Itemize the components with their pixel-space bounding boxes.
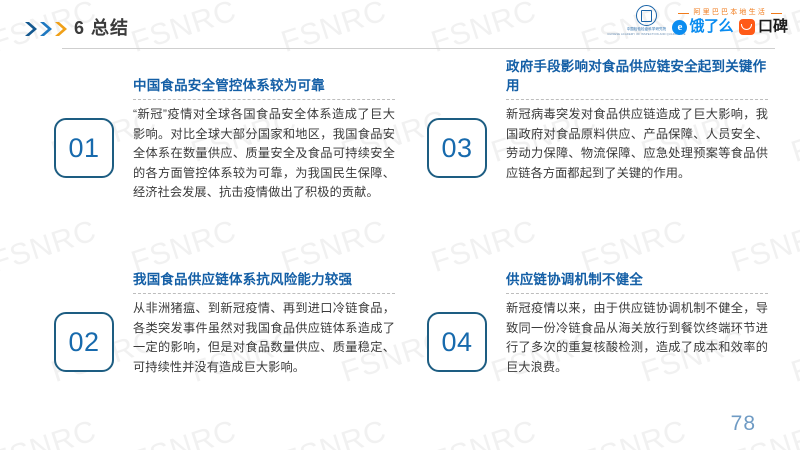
card-divider — [506, 99, 768, 100]
card-divider — [506, 293, 768, 294]
card-number-box: 01 — [54, 118, 114, 178]
tagline-rule-right — [771, 13, 782, 14]
tagline-rule-left — [678, 13, 689, 14]
caiq-name-cn: 中国检验检疫科学研究院 — [627, 27, 667, 32]
card-number-box: 04 — [427, 312, 487, 372]
card-heading: 供应链协调机制不健全 — [506, 270, 768, 289]
brand-marks-row: e 饿了么 口碑 — [672, 19, 788, 35]
slide-canvas: 6 总结 中国检验检疫科学研究院 CHINESE ACADEMY OF INSP… — [0, 0, 800, 450]
caiq-emblem-icon — [636, 5, 657, 26]
card-number: 04 — [441, 327, 472, 357]
summary-card-04: 04 供应链协调机制不健全 新冠疫情以来，由于供应链协调机制不健全，导致同一份冷… — [427, 312, 768, 377]
card-body: 政府手段影响对食品供应链安全起到关键作用 新冠病毒突发对食品供应链造成了巨大影响… — [506, 57, 768, 183]
card-number: 02 — [68, 327, 99, 357]
card-text: “新冠”疫情对全球各国食品安全体系造成了巨大影响。对比全球大部分国家和地区，我国… — [133, 105, 395, 203]
koubei-logo: 口碑 — [739, 19, 788, 35]
eleme-badge-icon: e — [672, 20, 687, 35]
tagline-text: 阿里巴巴本地生活 — [693, 8, 767, 18]
summary-card-02: 02 我国食品供应链体系抗风险能力较强 从非洲猪瘟、到新冠疫情、再到进口冷链食品… — [54, 312, 395, 377]
card-body: 中国食品安全管控体系较为可靠 “新冠”疫情对全球各国食品安全体系造成了巨大影响。… — [133, 76, 395, 203]
card-heading: 我国食品供应链体系抗风险能力较强 — [133, 270, 395, 289]
caiq-logo: 中国检验检疫科学研究院 CHINESE ACADEMY OF INSPECTIO… — [626, 5, 666, 37]
card-number-box: 02 — [54, 312, 114, 372]
card-number: 03 — [441, 133, 472, 163]
card-text: 新冠疫情以来，由于供应链协调机制不健全，导致同一份冷链食品从海关放行到餐饮终端环… — [506, 299, 768, 377]
summary-card-01: 01 中国食品安全管控体系较为可靠 “新冠”疫情对全球各国食品安全体系造成了巨大… — [54, 118, 395, 203]
card-text: 新冠病毒突发对食品供应链造成了巨大影响，我国政府对食品原料供应、产品保障、人员安… — [506, 105, 768, 183]
alibaba-local-services-logo: 阿里巴巴本地生活 e 饿了么 口碑 — [672, 7, 788, 35]
card-divider — [133, 99, 395, 100]
eleme-logo: e 饿了么 — [672, 19, 733, 35]
card-text: 从非洲猪瘟、到新冠疫情、再到进口冷链食品，各类突发事件虽然对我国食品供应链体系造… — [133, 299, 395, 377]
card-heading: 政府手段影响对食品供应链安全起到关键作用 — [506, 57, 768, 95]
page-title: 6 总结 — [74, 16, 129, 40]
card-number: 01 — [68, 133, 99, 163]
card-body: 供应链协调机制不健全 新冠疫情以来，由于供应链协调机制不健全，导致同一份冷链食品… — [506, 270, 768, 377]
chevron-arrows-icon — [24, 21, 68, 37]
header-divider — [62, 48, 775, 49]
koubei-smile-icon — [739, 19, 755, 35]
card-divider — [133, 293, 395, 294]
eleme-label: 饿了么 — [689, 19, 733, 35]
brand-logo-group: 中国检验检疫科学研究院 CHINESE ACADEMY OF INSPECTIO… — [626, 5, 788, 37]
card-number-box: 03 — [427, 118, 487, 178]
alibaba-tagline: 阿里巴巴本地生活 — [678, 8, 782, 18]
card-heading: 中国食品安全管控体系较为可靠 — [133, 76, 395, 95]
koubei-label: 口碑 — [758, 19, 788, 35]
page-number: 78 — [731, 412, 756, 436]
summary-card-03: 03 政府手段影响对食品供应链安全起到关键作用 新冠病毒突发对食品供应链造成了巨… — [427, 118, 768, 183]
card-body: 我国食品供应链体系抗风险能力较强 从非洲猪瘟、到新冠疫情、再到进口冷链食品，各类… — [133, 270, 395, 377]
slide-header: 6 总结 中国检验检疫科学研究院 CHINESE ACADEMY OF INSP… — [0, 0, 800, 56]
